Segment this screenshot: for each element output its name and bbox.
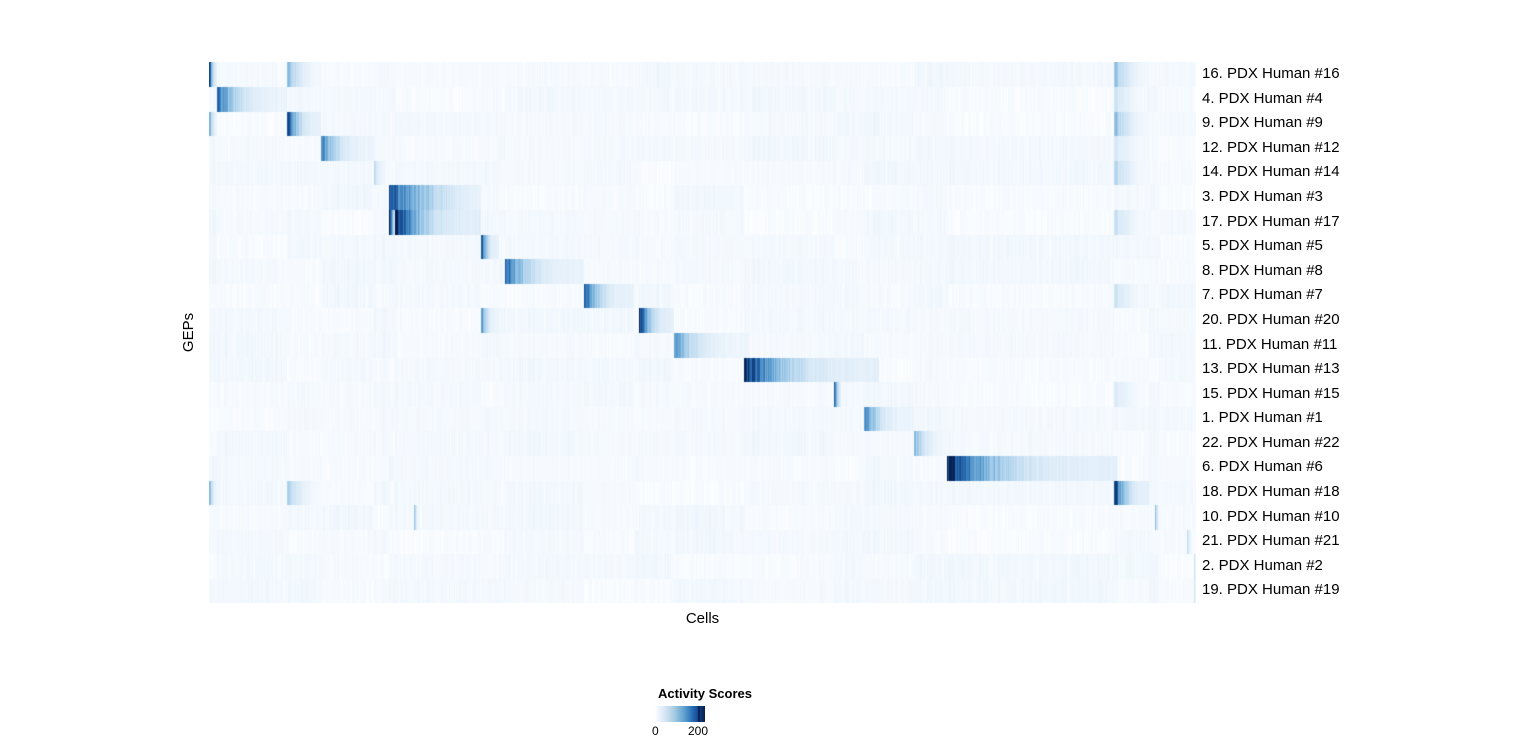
heatmap-row-label: 17. PDX Human #17 [1202, 210, 1340, 235]
colorbar-tick-mark [698, 706, 700, 722]
heatmap-row-label: 9. PDX Human #9 [1202, 111, 1323, 136]
heatmap-row-label: 18. PDX Human #18 [1202, 480, 1340, 505]
colorbar-tick-label-high: 200 [688, 724, 708, 738]
heatmap-figure: GEPs Cells 16. PDX Human #164. PDX Human… [0, 0, 1540, 743]
heatmap-row-label: 1. PDX Human #1 [1202, 406, 1323, 431]
heatmap-row-label: 4. PDX Human #4 [1202, 87, 1323, 112]
colorbar-tick-label-low: 0 [652, 724, 659, 738]
colorbar-title: Activity Scores [600, 686, 810, 701]
heatmap-row-label: 12. PDX Human #12 [1202, 136, 1340, 161]
heatmap-image [209, 62, 1196, 603]
x-axis-title: Cells [209, 610, 1196, 634]
heatmap-row-label: 2. PDX Human #2 [1202, 554, 1323, 579]
heatmap-row-labels: 16. PDX Human #164. PDX Human #49. PDX H… [1202, 62, 1532, 603]
heatmap-row-label: 19. PDX Human #19 [1202, 578, 1340, 603]
heatmap-row-label: 15. PDX Human #15 [1202, 382, 1340, 407]
heatmap-row-label: 21. PDX Human #21 [1202, 529, 1340, 554]
heatmap-plot-area[interactable] [209, 62, 1196, 603]
heatmap-row-label: 3. PDX Human #3 [1202, 185, 1323, 210]
heatmap-row-label: 10. PDX Human #10 [1202, 505, 1340, 530]
heatmap-row-label: 14. PDX Human #14 [1202, 160, 1340, 185]
heatmap-row-label: 13. PDX Human #13 [1202, 357, 1340, 382]
y-axis-title-label: GEPs [181, 313, 198, 352]
heatmap-row-label: 20. PDX Human #20 [1202, 308, 1340, 333]
y-axis-title: GEPs [178, 62, 200, 603]
heatmap-row-label: 6. PDX Human #6 [1202, 455, 1323, 480]
heatmap-row-label: 11. PDX Human #11 [1202, 333, 1337, 358]
heatmap-row-label: 7. PDX Human #7 [1202, 283, 1323, 308]
heatmap-row-label: 8. PDX Human #8 [1202, 259, 1323, 284]
heatmap-row-label: 16. PDX Human #16 [1202, 62, 1340, 87]
colorbar-legend: Activity Scores 0 200 [600, 686, 810, 741]
heatmap-row-label: 5. PDX Human #5 [1202, 234, 1323, 259]
heatmap-row-label: 22. PDX Human #22 [1202, 431, 1340, 456]
